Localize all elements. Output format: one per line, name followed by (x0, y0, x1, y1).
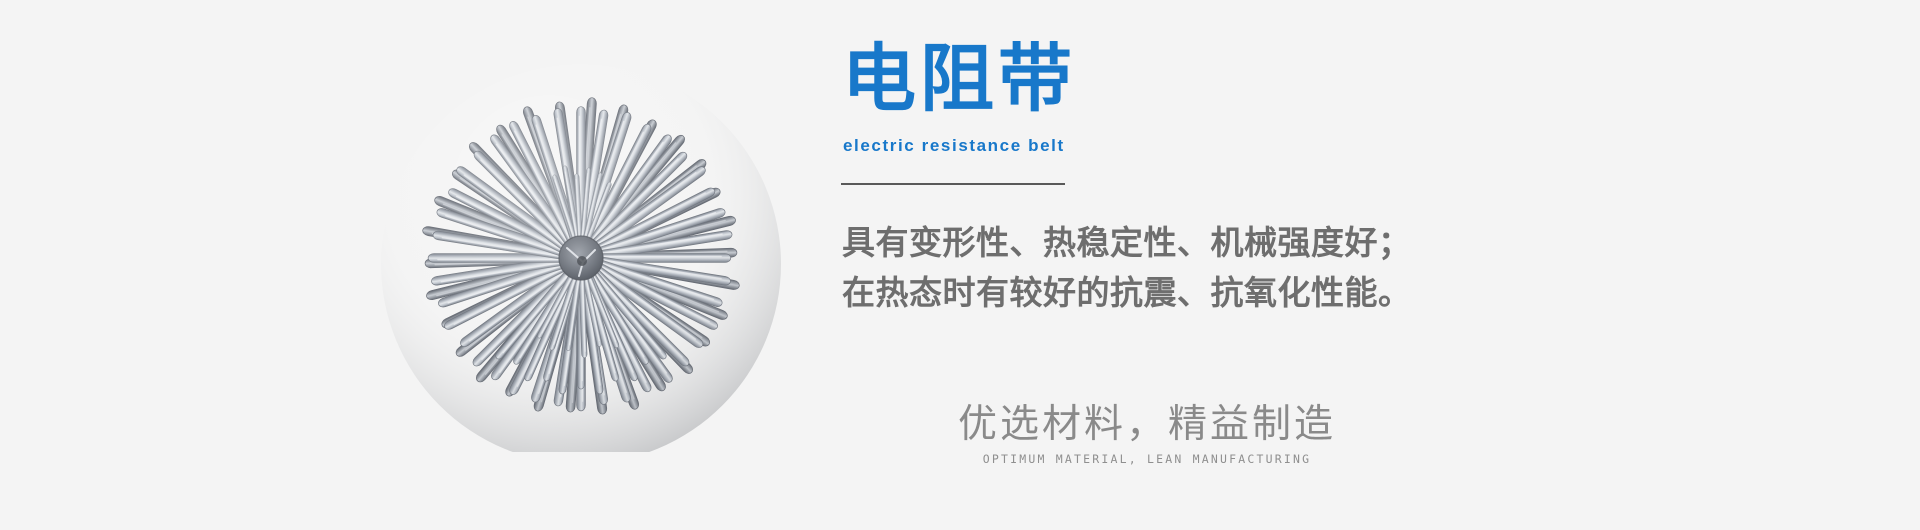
page-title: 电阻带 (842, 42, 1076, 116)
description-line-2: 在热态时有较好的抗震、抗氧化性能。 (842, 268, 1412, 318)
product-image (368, 62, 794, 452)
banner-text-column: 电阻带 electric resistance belt 具有变形性、热稳定性、… (840, 0, 1840, 530)
product-banner: 电阻带 electric resistance belt 具有变形性、热稳定性、… (0, 0, 1920, 530)
tagline-block: 优选材料，精益制造 OPTIMUM MATERIAL, LEAN MANUFAC… (958, 402, 1336, 466)
tagline-english: OPTIMUM MATERIAL, LEAN MANUFACTURING (958, 452, 1336, 466)
product-description: 具有变形性、热稳定性、机械强度好； 在热态时有较好的抗震、抗氧化性能。 (842, 218, 1412, 318)
page-subtitle-english: electric resistance belt (843, 136, 1065, 156)
description-line-1: 具有变形性、热稳定性、机械强度好； (842, 218, 1412, 268)
tagline-chinese: 优选材料，精益制造 (958, 402, 1336, 448)
title-divider (841, 183, 1065, 185)
